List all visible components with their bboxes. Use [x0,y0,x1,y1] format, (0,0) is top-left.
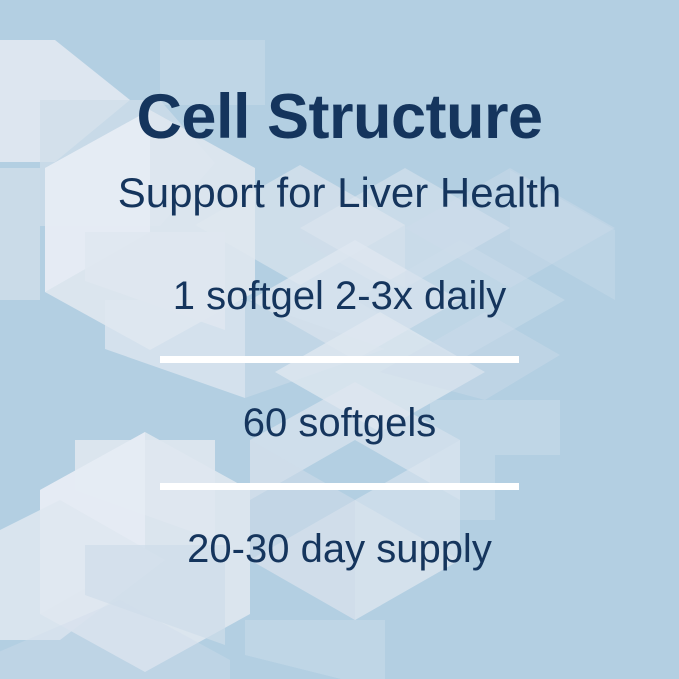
page-subtitle: Support for Liver Health [118,172,562,214]
fact-dosage: 1 softgel 2-3x daily [173,276,507,316]
divider-2 [160,483,519,490]
fact-count: 60 softgels [243,403,436,443]
product-info-card: Cell Structure Support for Liver Health … [0,0,679,679]
fact-day-supply: 20-30 day supply [187,529,492,569]
card-content: Cell Structure Support for Liver Health … [0,0,679,679]
divider-1 [160,356,519,363]
page-title: Cell Structure [136,86,542,149]
